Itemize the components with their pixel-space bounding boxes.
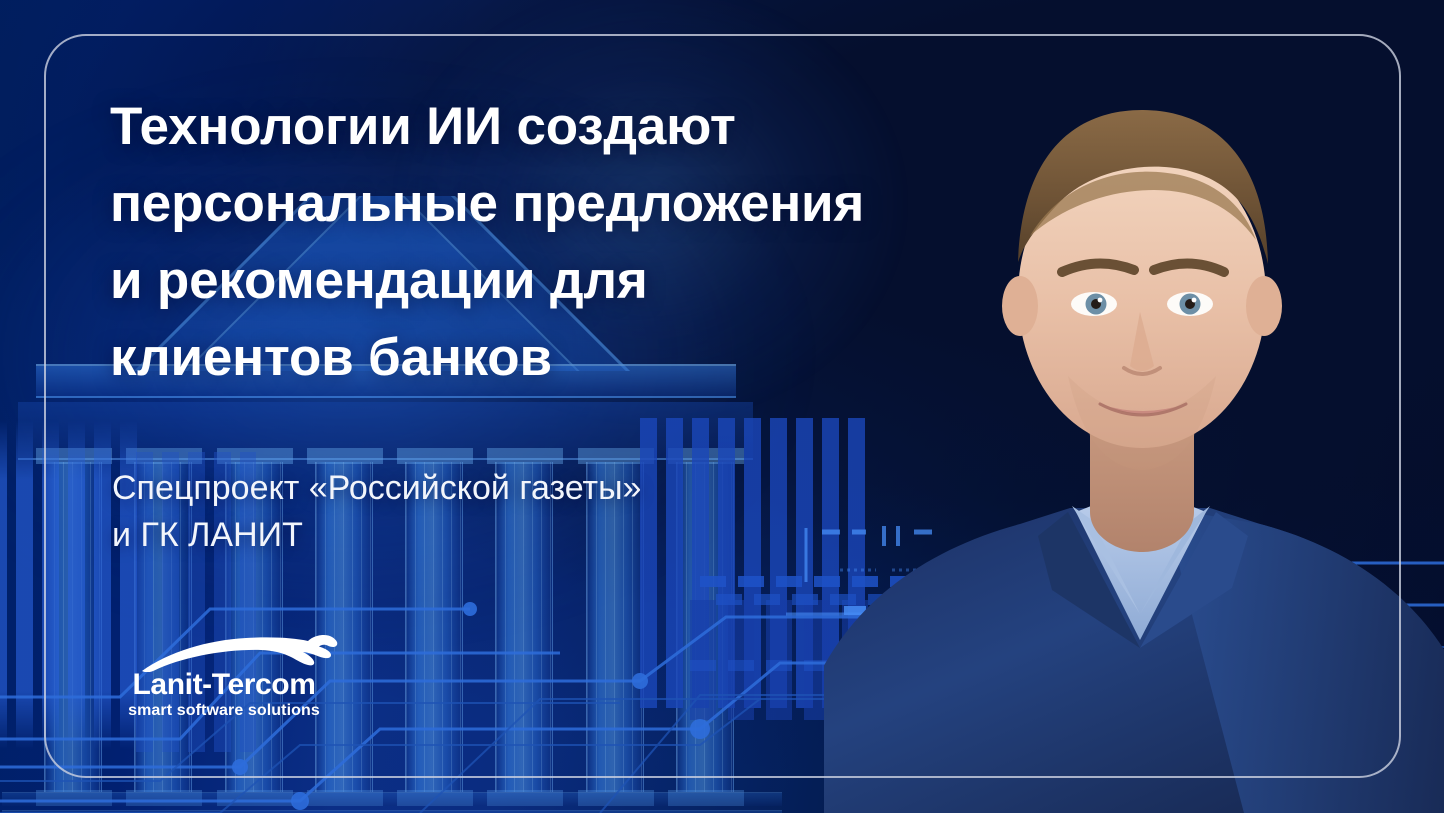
headline-line: Технологии ИИ создают [110, 88, 990, 165]
promo-banner: Технологии ИИ создают персональные предл… [0, 0, 1444, 813]
subtitle-line: Спецпроект «Российской газеты» [112, 465, 912, 512]
page-subtitle: Спецпроект «Российской газеты» и ГК ЛАНИ… [112, 465, 912, 559]
headline-line: и рекомендации для [110, 242, 990, 319]
logo-name: Lanit-Tercom [104, 668, 344, 702]
headline-line: клиентов банков [110, 319, 990, 396]
running-greyhound-icon [142, 632, 338, 672]
logo-tagline: smart software solutions [104, 702, 344, 720]
headline-line: персональные предложения [110, 165, 990, 242]
lanit-tercom-logo[interactable]: Lanit-Tercom smart software solutions [104, 632, 344, 724]
page-title: Технологии ИИ создают персональные предл… [110, 88, 990, 396]
subtitle-line: и ГК ЛАНИТ [112, 512, 912, 559]
